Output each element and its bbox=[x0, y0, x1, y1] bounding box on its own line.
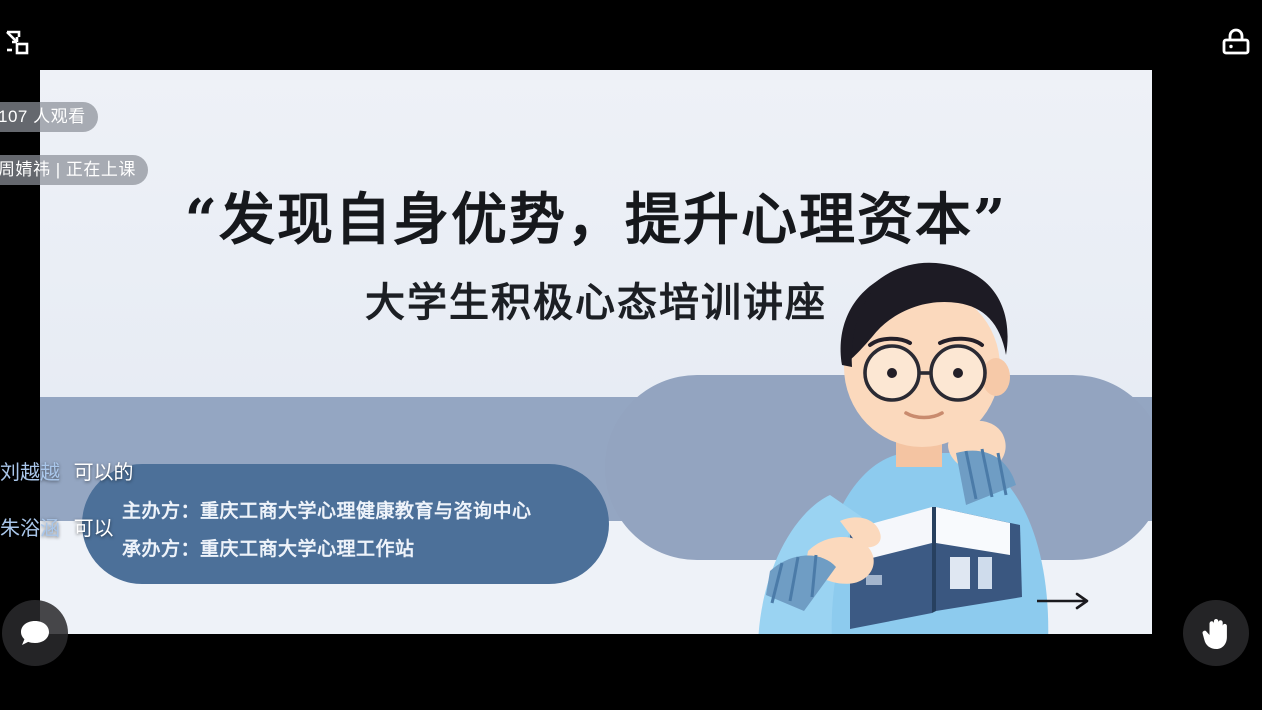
viewer-count-badge: 107 人观看 bbox=[0, 102, 98, 132]
chat-button[interactable] bbox=[2, 600, 68, 666]
arrow-right-icon bbox=[1035, 590, 1095, 612]
chat-message-text: 可以 bbox=[74, 518, 114, 540]
live-class-screen: “发现自身优势，提升心理资本” 大学生积极心态培训讲座 bbox=[0, 0, 1262, 710]
exit-fullscreen-glyph bbox=[5, 29, 35, 59]
raise-hand-button[interactable] bbox=[1183, 600, 1249, 666]
student-reading-book-illustration bbox=[700, 245, 1120, 634]
chat-message: 朱浴涵 可以 bbox=[0, 514, 330, 544]
viewer-count-label: 107 人观看 bbox=[0, 102, 86, 132]
chat-message-stack: 刘越越 可以的 朱浴涵 可以 bbox=[0, 458, 330, 570]
chat-message: 刘越越 可以的 bbox=[0, 458, 330, 488]
screen-lock-icon[interactable] bbox=[1214, 22, 1258, 66]
chat-bubble-icon bbox=[18, 616, 52, 650]
raise-hand-icon bbox=[1199, 615, 1233, 651]
screen-lock-glyph bbox=[1219, 27, 1253, 61]
chat-message-text: 可以的 bbox=[74, 462, 134, 484]
chat-message-name: 刘越越 bbox=[0, 462, 60, 484]
slide-title: “发现自身优势，提升心理资本” bbox=[40, 175, 1152, 256]
exit-fullscreen-icon[interactable] bbox=[0, 22, 42, 66]
chat-message-name: 朱浴涵 bbox=[0, 518, 60, 540]
